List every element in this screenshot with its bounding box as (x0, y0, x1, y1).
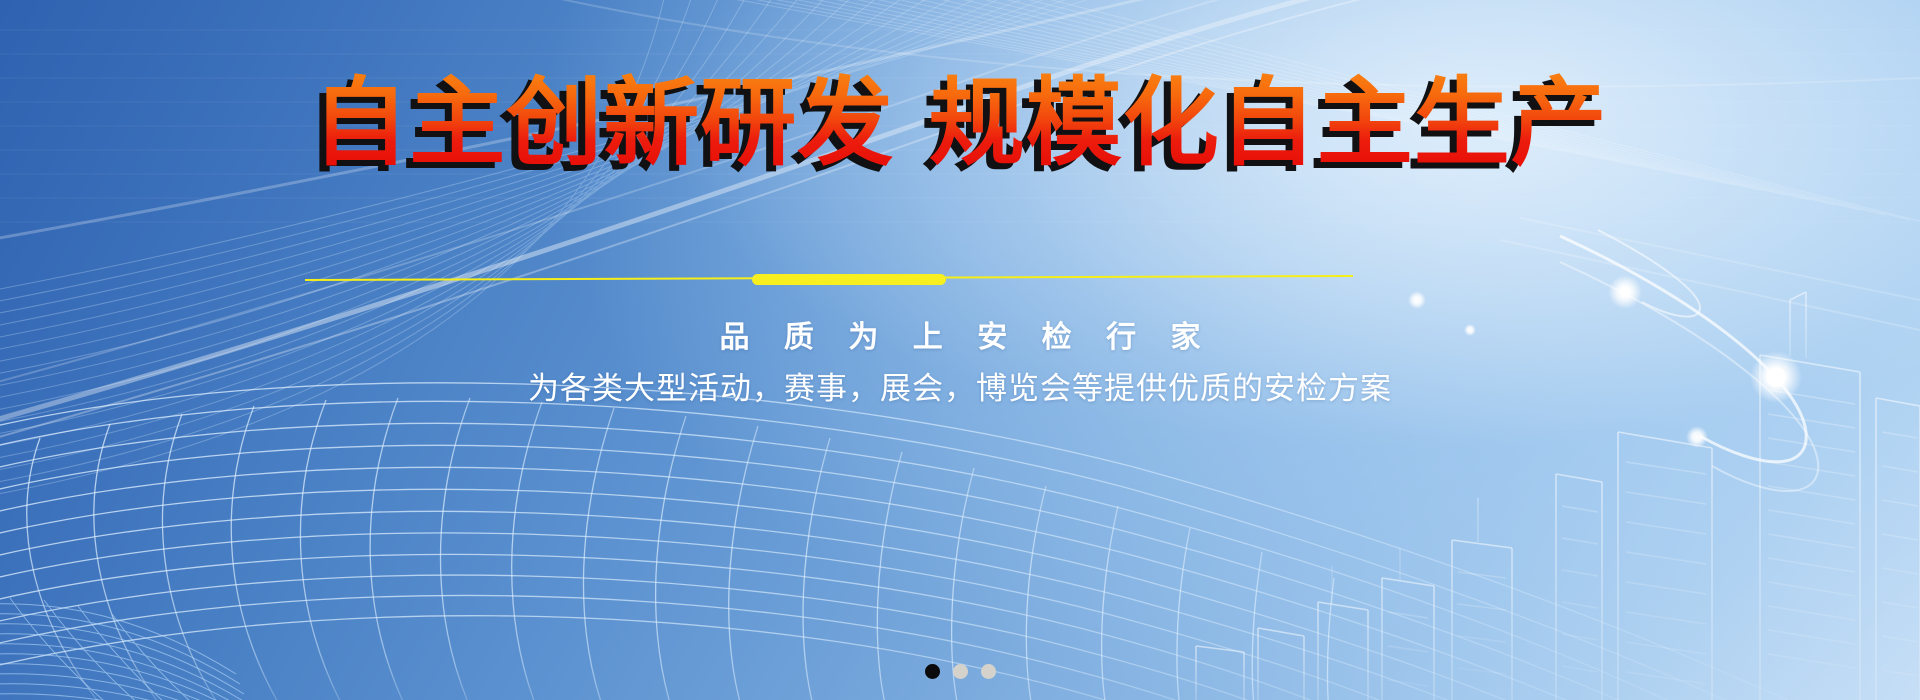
yellow-divider (305, 278, 1353, 281)
carousel-dots[interactable] (0, 664, 1920, 679)
divider-thick-segment (752, 274, 946, 285)
banner-tagline: 品 质 为 上 安 检 行 家 (0, 312, 1920, 356)
banner-headline: 自主创新研发 规模化自主生产 自主创新研发 规模化自主生产 (0, 72, 1920, 176)
banner-content: 自主创新研发 规模化自主生产 自主创新研发 规模化自主生产 品 质 为 上 安 … (0, 0, 1920, 700)
carousel-dot-2[interactable] (953, 664, 968, 679)
carousel-dot-1[interactable] (925, 664, 940, 679)
banner-description: 为各类大型活动，赛事，展会，博览会等提供优质的安检方案 (0, 363, 1920, 408)
carousel-dot-3[interactable] (981, 664, 996, 679)
headline-text: 自主创新研发 规模化自主生产 (312, 72, 1607, 176)
hero-banner: 自主创新研发 规模化自主生产 自主创新研发 规模化自主生产 品 质 为 上 安 … (0, 0, 1920, 700)
